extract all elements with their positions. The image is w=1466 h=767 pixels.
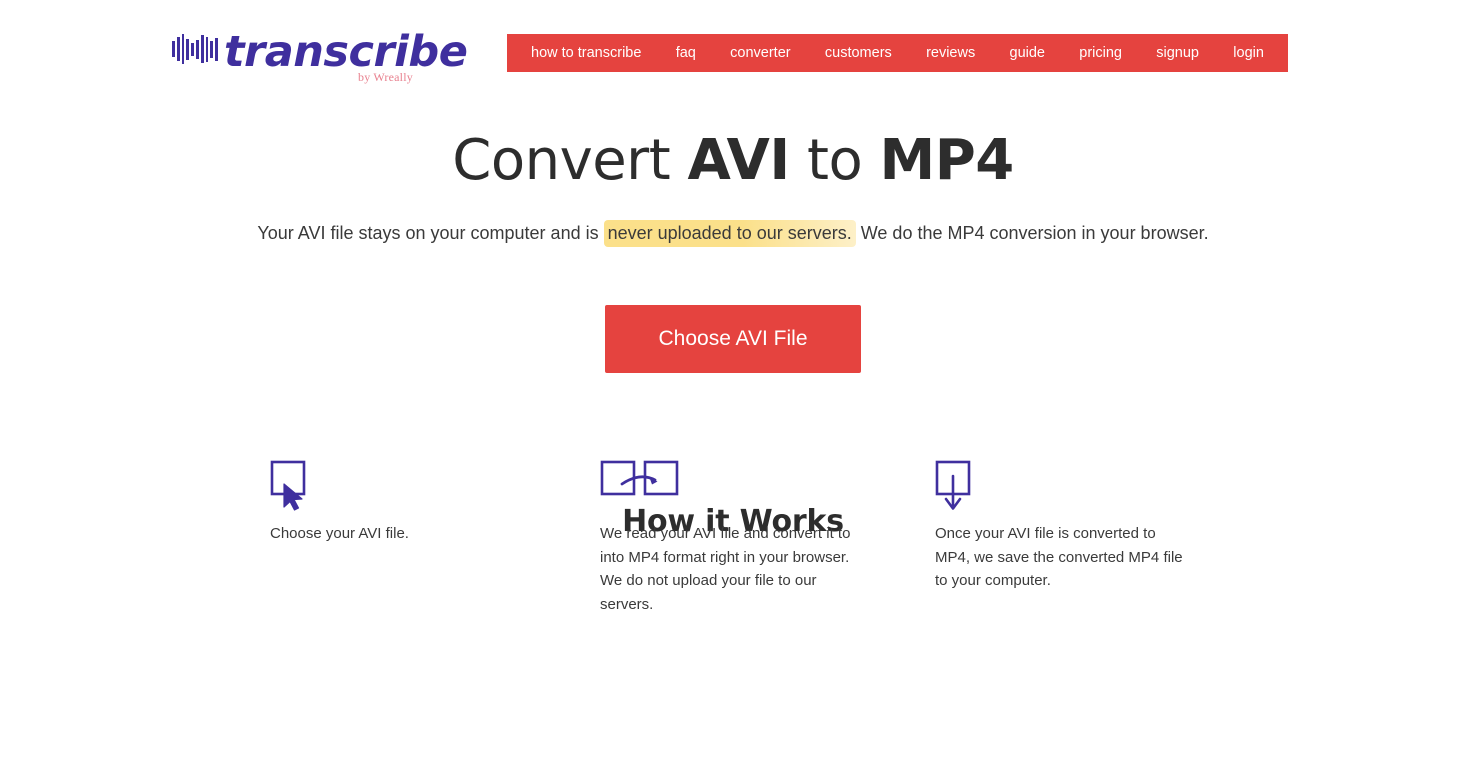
page-title: Convert AVI to MP4: [0, 100, 1466, 194]
nav-customers[interactable]: customers: [817, 34, 900, 72]
title-text-convert: Convert: [452, 128, 687, 193]
square-arrow-square-icon: [600, 460, 900, 522]
step-description: Choose your AVI file.: [270, 522, 530, 546]
subtitle-text-after: We do the MP4 conversion in your browser…: [856, 223, 1209, 243]
title-source-format: AVI: [687, 128, 789, 193]
nav-faq[interactable]: faq: [668, 34, 704, 72]
square-cursor-icon: [270, 460, 565, 522]
waveform-icon: [172, 33, 218, 65]
subtitle-highlight: never uploaded to our servers.: [604, 220, 856, 247]
square-download-arrow-icon: [935, 460, 1235, 522]
step-item: Choose your AVI file.: [270, 460, 600, 616]
nav-guide[interactable]: guide: [1002, 34, 1053, 72]
step-item: We read your AVI file and convert it to …: [600, 460, 935, 616]
nav-converter[interactable]: converter: [722, 34, 798, 72]
nav-login[interactable]: login: [1225, 34, 1272, 72]
nav-how-to-transcribe[interactable]: how to transcribe: [523, 34, 649, 72]
step-description: We read your AVI file and convert it to …: [600, 522, 852, 616]
nav-reviews[interactable]: reviews: [918, 34, 983, 72]
nav-pricing[interactable]: pricing: [1071, 34, 1130, 72]
title-target-format: MP4: [880, 128, 1014, 193]
page-root: transcribe by Wreally how to transcribe …: [0, 0, 1466, 767]
subtitle-text-before: Your AVI file stays on your computer and…: [257, 223, 603, 243]
cta-container: Choose AVI File: [0, 246, 1466, 373]
title-text-to: to: [790, 128, 880, 193]
how-it-works-steps: Choose your AVI file. We read your AVI f…: [0, 460, 1466, 616]
site-logo[interactable]: transcribe by Wreally: [172, 26, 422, 88]
hero-subtitle: Your AVI file stays on your computer and…: [0, 194, 1466, 246]
choose-file-button[interactable]: Choose AVI File: [605, 305, 861, 373]
nav-signup[interactable]: signup: [1148, 34, 1207, 72]
site-header: transcribe by Wreally how to transcribe …: [0, 0, 1466, 100]
logo-wordmark: transcribe: [224, 26, 467, 78]
step-description: Once your AVI file is converted to MP4, …: [935, 522, 1187, 593]
main-navigation: how to transcribe faq converter customer…: [507, 34, 1288, 72]
step-item: Once your AVI file is converted to MP4, …: [935, 460, 1270, 616]
logo-byline: by Wreally: [358, 70, 413, 85]
